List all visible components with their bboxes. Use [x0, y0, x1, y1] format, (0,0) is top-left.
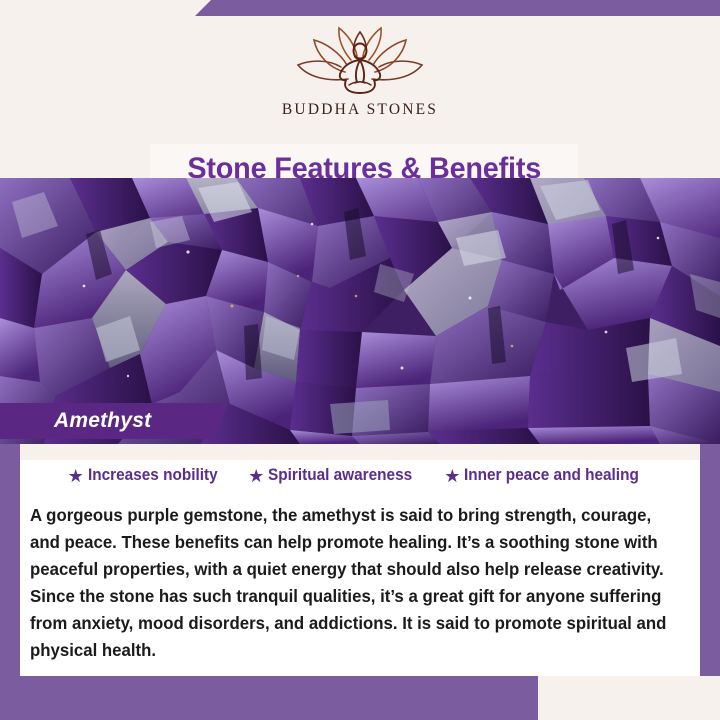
stone-details-card: ★ Increases nobility ★ Spiritual awarene… — [20, 444, 700, 676]
benefits-list: ★ Increases nobility ★ Spiritual awarene… — [20, 466, 700, 485]
star-icon: ★ — [248, 467, 264, 485]
brand-name: BUDDHA STONES — [282, 101, 438, 119]
benefit-item: ★ Increases nobility — [68, 466, 228, 485]
stone-infographic: BUDDHA STONES Stone Features & Benefits — [0, 0, 720, 720]
bottom-band-fill — [538, 676, 720, 720]
stone-description: A gorgeous purple gemstone, the amethyst… — [30, 502, 668, 664]
stone-name-banner: Amethyst — [0, 403, 228, 439]
card-top-strip — [20, 444, 700, 460]
star-icon: ★ — [444, 467, 460, 485]
stone-name: Amethyst — [54, 409, 151, 433]
top-decorative-band-fill — [212, 0, 720, 16]
benefit-label: Spiritual awareness — [268, 466, 412, 485]
benefit-label: Increases nobility — [88, 466, 218, 485]
lotus-meditation-icon — [285, 24, 435, 98]
bottom-decorative-band — [0, 676, 560, 720]
header: BUDDHA STONES Stone Features & Benefits — [0, 16, 720, 178]
benefit-item: ★ Inner peace and healing — [444, 466, 652, 485]
benefit-label: Inner peace and healing — [464, 466, 639, 485]
brand-logo: BUDDHA STONES — [0, 24, 720, 119]
star-icon: ★ — [68, 467, 84, 485]
benefit-item: ★ Spiritual awareness — [248, 466, 423, 485]
